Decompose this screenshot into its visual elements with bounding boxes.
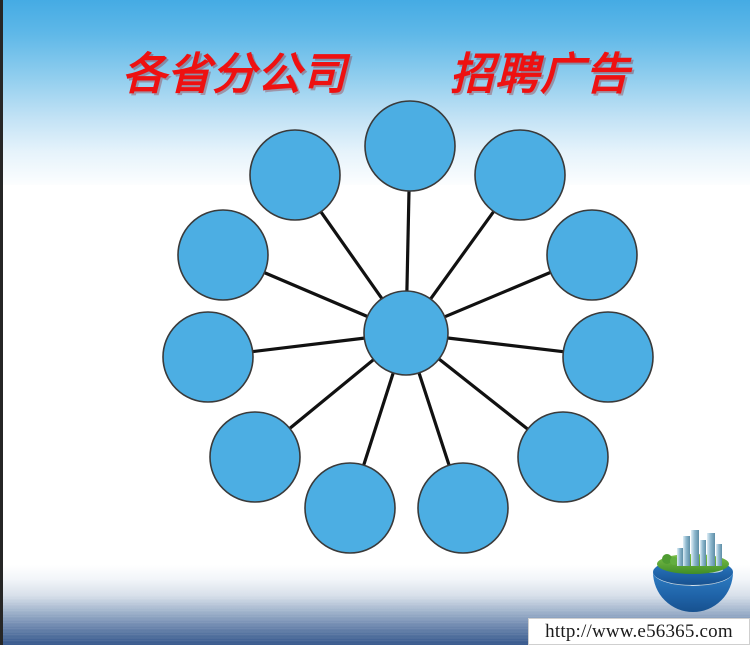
building-tower-2 [691, 530, 699, 566]
spoke-line-satellite-bottom-right [419, 373, 449, 465]
satellite-left-mid[interactable] [163, 312, 253, 402]
satellite-lower-right[interactable] [518, 412, 608, 502]
building-tower-4 [707, 533, 715, 566]
spoke-line-satellite-lower-left [290, 360, 374, 429]
spoke-line-satellite-upper-right [431, 212, 494, 299]
building-tower [683, 536, 690, 566]
satellite-right-mid[interactable] [563, 312, 653, 402]
nodes-layer [163, 101, 653, 553]
tree-icon-2 [670, 557, 678, 565]
spoke-line-satellite-lower-right [439, 359, 528, 429]
building-tower-3 [700, 540, 706, 566]
satellite-bottom-left[interactable] [305, 463, 395, 553]
spoke-line-satellite-top [407, 191, 409, 291]
spoke-line-satellite-left-mid [253, 338, 365, 352]
satellite-upper-right[interactable] [475, 130, 565, 220]
hub-and-spoke-diagram [0, 0, 750, 645]
satellite-top[interactable] [365, 101, 455, 191]
satellite-bottom-right[interactable] [418, 463, 508, 553]
watermark-url-text: http://www.e56365.com [545, 621, 733, 643]
spoke-line-satellite-bottom-left [364, 373, 394, 465]
satellite-left-upper[interactable] [178, 210, 268, 300]
satellite-upper-left[interactable] [250, 130, 340, 220]
watermark-url-box: http://www.e56365.com [528, 618, 750, 645]
spoke-line-satellite-left-upper [264, 273, 367, 317]
globe-city-logo-svg [645, 528, 741, 614]
slide-canvas: 各省分公司 招聘广告 [0, 0, 750, 645]
building-tower-6 [677, 548, 683, 566]
spoke-line-satellite-right-mid [448, 338, 564, 352]
hub-node[interactable] [364, 291, 448, 375]
globe-city-logo [645, 528, 741, 614]
satellite-right-upper[interactable] [547, 210, 637, 300]
diagram-svg [0, 0, 750, 645]
spoke-line-satellite-upper-left [321, 212, 382, 299]
spoke-line-satellite-right-upper [445, 272, 551, 316]
satellite-lower-left[interactable] [210, 412, 300, 502]
building-tower-5 [716, 544, 722, 566]
